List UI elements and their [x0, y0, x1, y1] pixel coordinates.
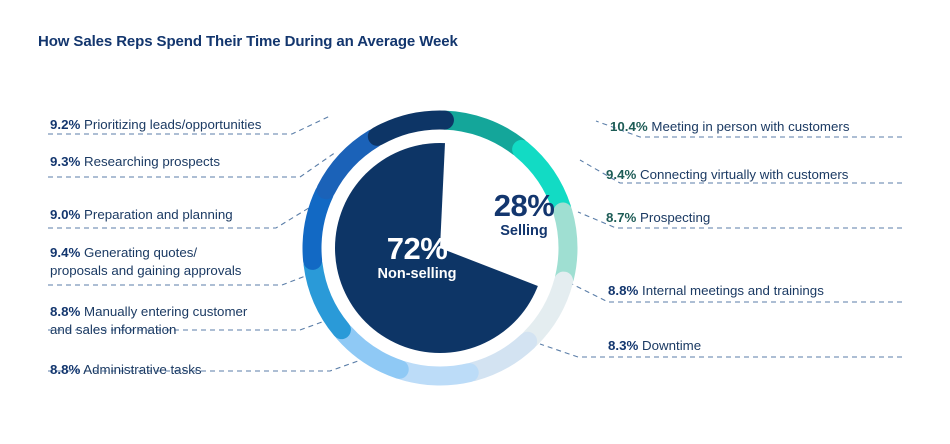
label-percent: 9.3% [50, 154, 80, 169]
label-text: Preparation and planning [84, 207, 233, 222]
label-internal-meetings: 8.8% Internal meetings and trainings [608, 282, 824, 300]
label-text: Meeting in person with customers [651, 119, 849, 134]
label-text: Downtime [642, 338, 701, 353]
label-percent: 8.8% [608, 283, 638, 298]
label-percent: 9.4% [50, 245, 80, 260]
label-percent: 9.2% [50, 117, 80, 132]
label-percent: 9.0% [50, 207, 80, 222]
label-text: Prospecting [640, 210, 710, 225]
center-label-nonselling: 72% Non-selling [355, 233, 479, 282]
label-percent: 8.3% [608, 338, 638, 353]
label-text: Connecting virtually with customers [640, 167, 848, 182]
label-percent: 8.8% [50, 362, 80, 377]
center-label-selling: 28% Selling [476, 190, 572, 239]
label-percent: 9.4% [606, 167, 636, 182]
label-generating-quotes: 9.4% Generating quotes/ proposals and ga… [50, 244, 290, 279]
label-text: Researching prospects [84, 154, 220, 169]
center-caption-selling: Selling [476, 224, 572, 239]
label-manual-entry: 8.8% Manually entering customer and sale… [50, 303, 290, 338]
label-text-line2: proposals and gaining approvals [50, 263, 241, 278]
label-administrative-tasks: 8.8% Administrative tasks [50, 361, 202, 379]
leader-lines-right [540, 121, 902, 357]
label-text: Generating quotes/ [84, 245, 197, 260]
label-text: Internal meetings and trainings [642, 283, 824, 298]
label-downtime: 8.3% Downtime [608, 337, 701, 355]
center-value-nonselling: 72% [355, 233, 479, 264]
label-text-line2: and sales information [50, 322, 176, 337]
label-text: Administrative tasks [83, 362, 201, 377]
label-prospecting: 8.7% Prospecting [606, 209, 710, 227]
label-text: Prioritizing leads/opportunities [84, 117, 261, 132]
label-percent: 8.7% [606, 210, 636, 225]
label-prioritizing-leads: 9.2% Prioritizing leads/opportunities [50, 116, 261, 134]
label-text: Manually entering customer [84, 304, 247, 319]
label-meeting-in-person: 10.4% Meeting in person with customers [610, 118, 849, 136]
label-percent: 8.8% [50, 304, 80, 319]
center-caption-nonselling: Non-selling [355, 267, 479, 282]
label-researching-prospects: 9.3% Researching prospects [50, 153, 220, 171]
label-connecting-virtually: 9.4% Connecting virtually with customers [606, 166, 848, 184]
label-preparation-planning: 9.0% Preparation and planning [50, 206, 233, 224]
center-value-selling: 28% [476, 190, 572, 221]
donut-chart: 72% Non-selling 28% Selling 9.2% Priorit… [0, 0, 950, 444]
label-percent: 10.4% [610, 119, 648, 134]
